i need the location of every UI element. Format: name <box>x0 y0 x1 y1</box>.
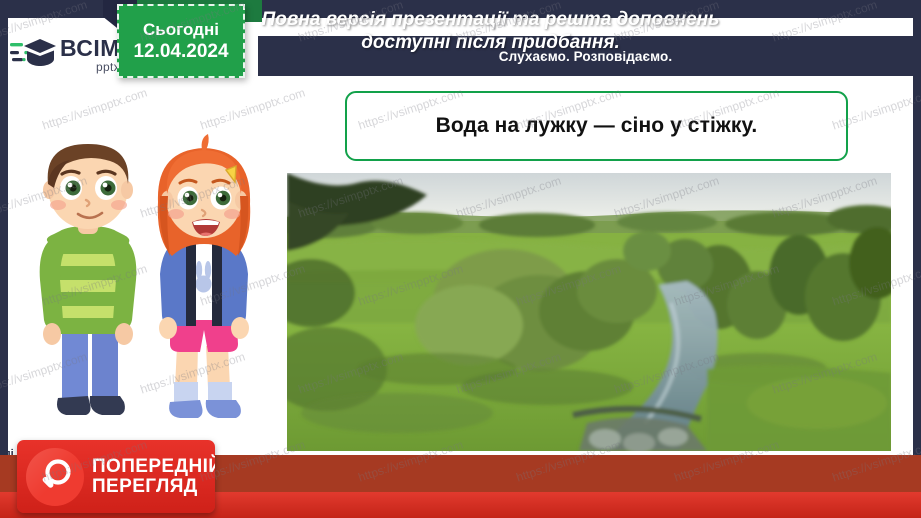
proverb-text: Вода на лужку — сіно у стіжку. <box>436 114 758 138</box>
purchase-banner-line-1: Повна версія презентації та решта доповн… <box>262 9 720 31</box>
purchase-banner-line-2: доступні після придбання. <box>361 32 620 54</box>
children-illustration <box>10 130 286 450</box>
preview-badge-line-2: ПЕРЕГЛЯД <box>92 477 215 496</box>
purchase-banner-text: Повна версія презентації та решта доповн… <box>0 0 921 63</box>
boy-character <box>40 144 137 415</box>
girl-character <box>158 134 250 418</box>
preview-badge-line-1: ПОПЕРЕДНІЙ <box>92 457 215 476</box>
meadow-stream-photo <box>287 173 891 451</box>
proverb-box: Вода на лужку — сіно у стіжку. <box>345 91 848 161</box>
preview-badge[interactable]: ПОПЕРЕДНІЙ ПЕРЕГЛЯД <box>17 440 215 513</box>
magnifier-icon <box>26 448 84 506</box>
presentation-slide: ВСІМ pptx Сьогодні 12.04.2024 Слухаємо. … <box>0 0 921 518</box>
preview-badge-labels: ПОПЕРЕДНІЙ ПЕРЕГЛЯД <box>92 457 215 496</box>
